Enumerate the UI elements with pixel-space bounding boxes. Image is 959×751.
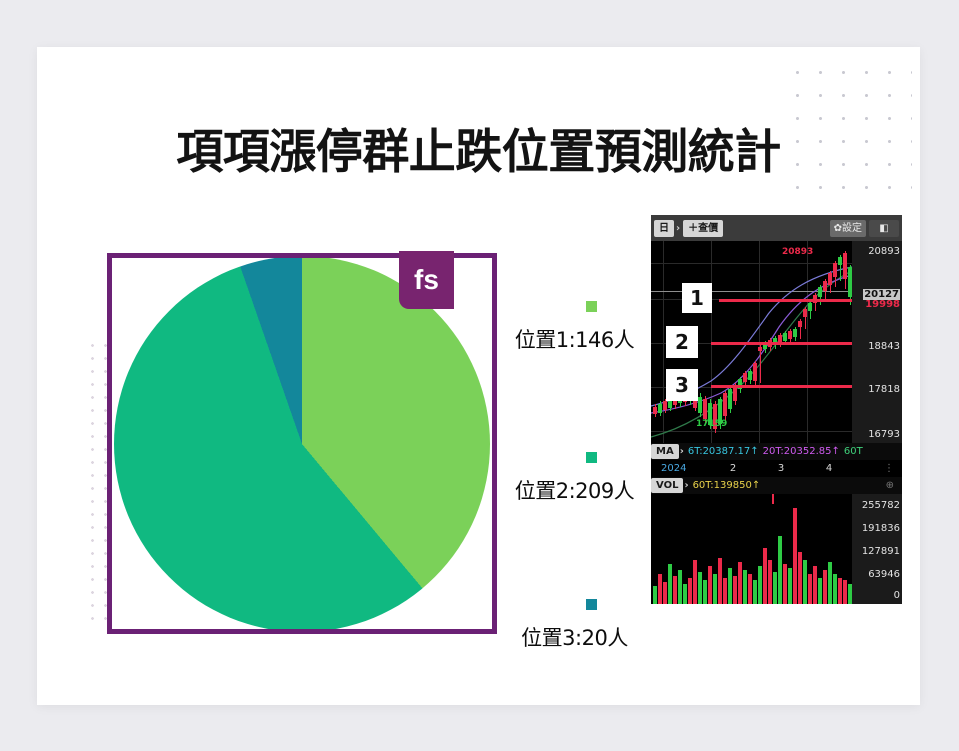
moving-average-row[interactable]: MA › 6T:20387.17↑ 20T:20352.85↑ 60T	[651, 443, 902, 460]
date-axis-month-3: 3	[757, 463, 805, 474]
chevron-right-icon[interactable]: ›	[676, 223, 680, 234]
stock-chart-toolbar: 日 › ＋查價 ✿設定 ◧	[651, 215, 902, 241]
low-price-tag: 17159	[696, 419, 727, 429]
volume-bar	[713, 574, 717, 604]
pie-chart-container	[112, 258, 492, 629]
candle-body	[828, 273, 832, 285]
volume-bar	[733, 576, 737, 604]
volume-bar	[803, 560, 807, 604]
candle-body	[753, 363, 757, 381]
pie-chart-legend: 位置1:146人 位置2:209人 位置3:20人	[492, 253, 657, 638]
legend-label-position3: 位置3:20人	[492, 622, 657, 652]
support-line-2	[711, 342, 852, 345]
legend-label-position2: 位置2:209人	[492, 475, 657, 505]
volume-bar	[763, 548, 767, 604]
volume-bar	[668, 564, 672, 604]
volume-chart-pane[interactable]: 255782 191836 127891 63946 0	[651, 494, 902, 604]
price-axis-label-2: 18843	[868, 341, 900, 352]
volume-bar	[788, 568, 792, 604]
candle-body	[703, 399, 707, 419]
volume-bar	[778, 536, 782, 604]
volume-axis-label-1: 191836	[862, 523, 900, 534]
volume-bar	[653, 586, 657, 604]
date-axis-month-2: 2	[709, 463, 757, 474]
volume-bar	[723, 578, 727, 604]
volume-bar	[838, 578, 842, 604]
volume-axis-label-2: 127891	[862, 546, 900, 557]
candle-body	[758, 347, 762, 351]
vol-60t-value: 60T:139850↑	[693, 480, 761, 491]
settings-button[interactable]: ✿設定	[830, 220, 866, 237]
overflow-menu-icon[interactable]: ⋮	[884, 463, 894, 474]
volume-bar	[738, 562, 742, 604]
candle-body	[748, 371, 752, 380]
volume-bar	[768, 560, 772, 604]
marker-box-3: 3	[666, 369, 698, 401]
volume-bar	[698, 572, 702, 604]
candle-body	[653, 407, 657, 414]
volume-bar	[683, 584, 687, 604]
legend-swatch-position2	[586, 452, 597, 463]
volume-bar	[688, 578, 692, 604]
support-line-1	[719, 299, 852, 302]
volume-bar	[828, 562, 832, 604]
volume-bar	[708, 566, 712, 604]
volume-bar	[753, 580, 757, 604]
candle-body	[728, 389, 732, 409]
volume-bar	[823, 570, 827, 604]
candle-body	[663, 401, 667, 410]
volume-marker	[772, 494, 774, 504]
candle-body	[698, 397, 702, 413]
date-axis-year: 2024	[661, 463, 709, 474]
candle-body	[788, 331, 792, 339]
candle-body	[798, 321, 802, 327]
volume-bar	[843, 580, 847, 604]
date-axis-row: 2024 2 3 4 ⋮	[651, 460, 902, 477]
price-axis-label-3: 17818	[868, 384, 900, 395]
brand-badge: fs	[399, 251, 454, 309]
candle-body	[843, 253, 847, 279]
legend-swatch-position3	[586, 599, 597, 610]
vol-label[interactable]: VOL	[651, 478, 683, 493]
candle-body	[823, 281, 827, 291]
legend-swatch-position1	[586, 301, 597, 312]
price-chart-pane[interactable]: 1 2 3 20893 17159 20893 20127 19998 1884…	[651, 241, 902, 443]
volume-bar	[673, 576, 677, 604]
marker-box-1: 1	[682, 283, 712, 313]
high-price-tag: 20893	[782, 247, 813, 257]
volume-bar	[758, 566, 762, 604]
legend-label-position1: 位置1:146人	[492, 324, 657, 354]
volume-axis-label-4: 0	[894, 590, 900, 601]
candle-body	[723, 393, 727, 416]
volume-bar	[728, 568, 732, 604]
page-title: 項項漲停群止跌位置預測統計	[37, 129, 920, 176]
date-axis-month-4: 4	[805, 463, 853, 474]
volume-bar	[678, 570, 682, 604]
volume-bar	[773, 572, 777, 604]
price-axis: 20893 20127 19998 18843 17818 16793	[852, 241, 902, 443]
marker-box-2: 2	[666, 326, 698, 358]
volume-bar	[743, 570, 747, 604]
candle-body	[743, 373, 747, 382]
candle-body	[818, 287, 822, 297]
pie-chart-frame	[107, 253, 497, 634]
vol-chevron-icon[interactable]: ›	[684, 480, 688, 491]
ma-20t-value: 20T:20352.85↑	[763, 446, 840, 457]
volume-bar	[748, 574, 752, 604]
volume-bar	[833, 574, 837, 604]
candle-body	[833, 263, 837, 277]
candle-body	[658, 404, 662, 413]
pie-chart	[114, 258, 490, 629]
current-price-tag-alt: 19998	[865, 299, 900, 310]
candle-body	[793, 329, 797, 337]
volume-axis-label-3: 63946	[868, 569, 900, 580]
volume-bar	[658, 574, 662, 604]
volume-settings-icon[interactable]: ⊕	[886, 480, 894, 491]
volume-bar	[793, 508, 797, 604]
volume-indicator-row[interactable]: VOL › 60T:139850↑ ⊕	[651, 477, 902, 494]
period-button[interactable]: 日	[654, 220, 674, 237]
candle-body	[808, 303, 812, 311]
volume-bar	[813, 566, 817, 604]
price-axis-label-4: 16793	[868, 429, 900, 440]
stock-chart-screenshot: 日 › ＋查價 ✿設定 ◧ 1 2 3 20893 17159 2	[651, 215, 902, 604]
volume-bar	[818, 578, 822, 604]
ma-60t-value: 60T	[844, 446, 863, 457]
support-line-3	[711, 385, 852, 388]
add-quote-button[interactable]: ＋查價	[683, 220, 723, 237]
presentation-slide: 項項漲停群止跌位置預測統計 fs 位置1:146人 位置2:209人 位置3:2…	[37, 47, 920, 705]
volume-axis-label-0: 255782	[862, 500, 900, 511]
candle-body	[783, 333, 787, 341]
volume-bar	[808, 574, 812, 604]
ma-label[interactable]: MA	[651, 444, 679, 459]
volume-bar	[783, 564, 787, 604]
price-axis-label-0: 20893	[868, 246, 900, 257]
volume-axis: 255782 191836 127891 63946 0	[852, 494, 902, 604]
volume-bar	[798, 552, 802, 604]
volume-bar	[718, 558, 722, 604]
candle-body	[838, 257, 842, 265]
volume-bar	[703, 580, 707, 604]
volume-bar	[663, 582, 667, 604]
ma-6t-value: 6T:20387.17↑	[688, 446, 759, 457]
candle-body	[803, 309, 807, 317]
rotate-screen-icon[interactable]: ◧	[869, 220, 899, 237]
volume-bar	[693, 560, 697, 604]
ma-chevron-icon[interactable]: ›	[680, 446, 684, 457]
